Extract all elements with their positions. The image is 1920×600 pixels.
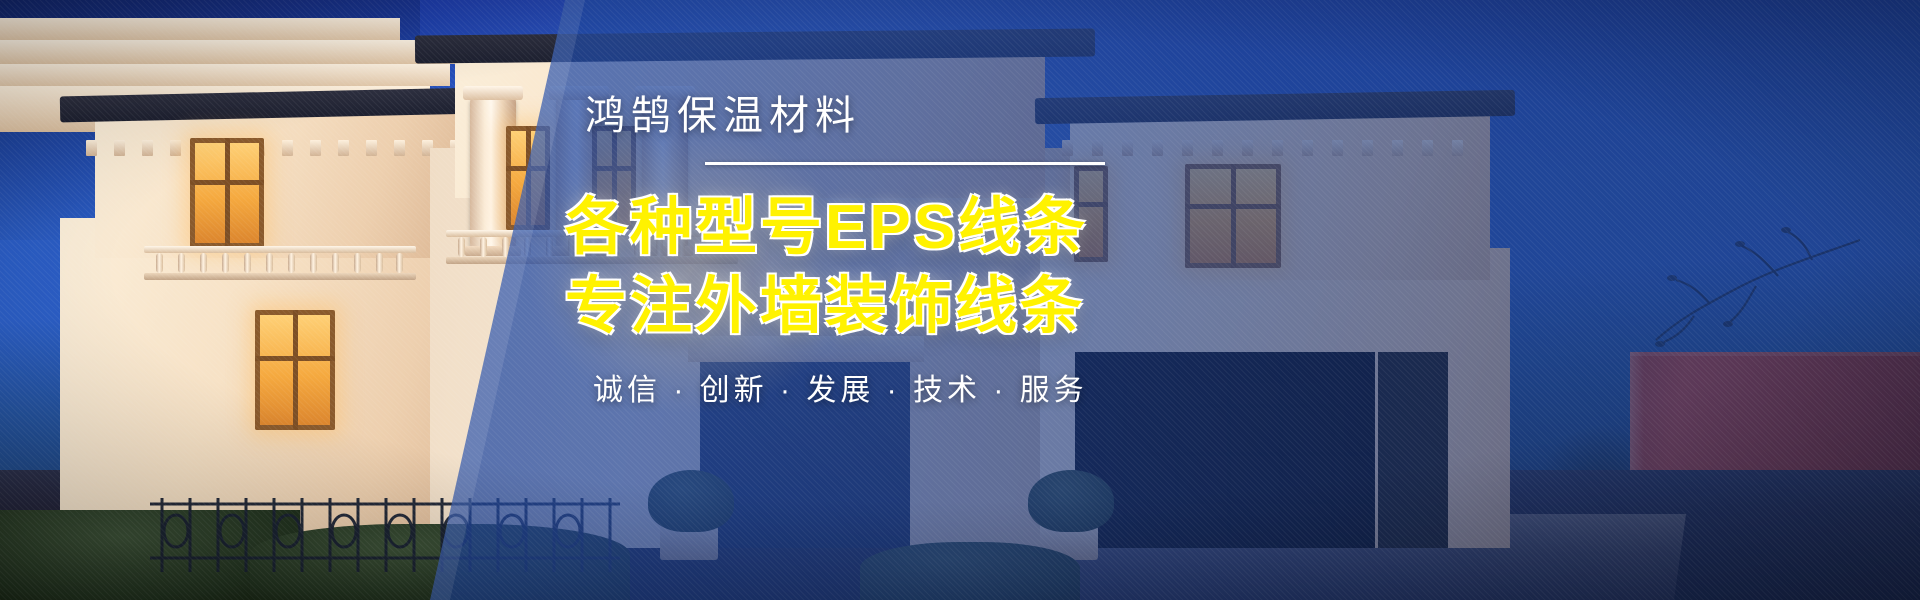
tagline: 诚信 · 创新 · 发展 · 技术 · 服务	[593, 376, 1465, 406]
banner-copy: 鸿鹄保温材料 各种型号EPS线条 专注外墙装饰线条 诚信 · 创新 · 发展 ·…	[565, 96, 1465, 406]
divider-rule	[705, 162, 1105, 165]
window-lit	[190, 138, 264, 248]
headline-line-1: 各种型号EPS线条	[565, 193, 1465, 264]
left-wing-upper-wall	[95, 108, 455, 258]
brand-name: 鸿鹄保温材料	[585, 96, 1465, 136]
right-wing-cornice	[0, 64, 450, 86]
left-wing-cornice	[0, 18, 400, 40]
left-wing-dentils	[86, 140, 476, 156]
window-lit	[255, 310, 335, 430]
balustrade	[150, 246, 410, 280]
headline-line-2: 专注外墙装饰线条	[565, 272, 1465, 343]
promo-banner: 鸿鹄保温材料 各种型号EPS线条 专注外墙装饰线条 诚信 · 创新 · 发展 ·…	[0, 0, 1920, 600]
